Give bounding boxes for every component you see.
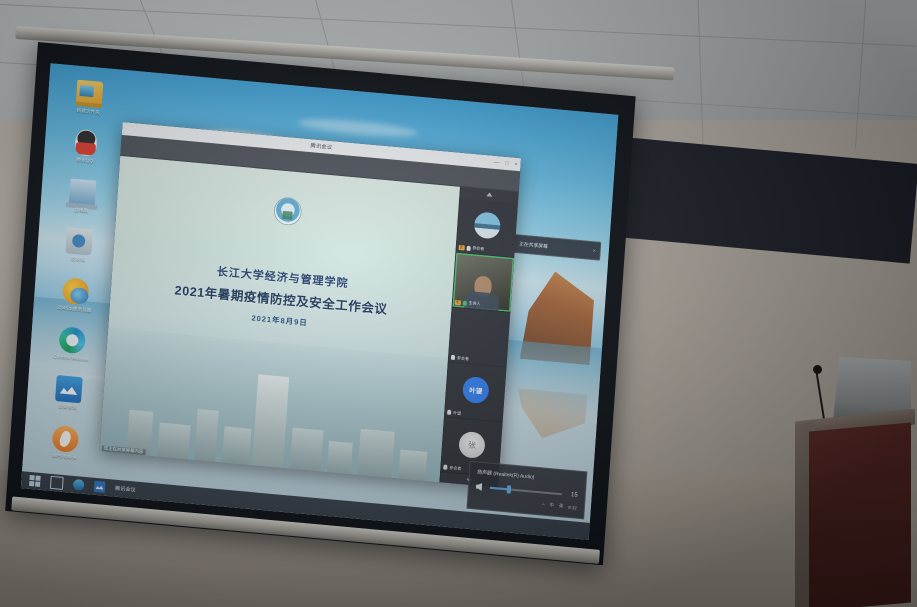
participant-tile[interactable]: 叶望 叶望	[445, 363, 507, 423]
meeting-body: 长江大学经济与管理学院 2021年暑期疫情防控及安全工作会议 2021年8月9日…	[100, 156, 519, 488]
notification-toast[interactable]: 正在共享屏幕 ×	[504, 233, 601, 261]
slide-title-block: 长江大学经济与管理学院 2021年暑期疫情防控及安全工作会议 2021年8月9日	[109, 254, 453, 342]
microphone-icon	[462, 300, 466, 305]
microphone-head-icon	[813, 365, 822, 374]
microphone-icon	[447, 410, 451, 415]
start-button-icon[interactable]	[29, 475, 41, 487]
host-badge: 主	[455, 300, 461, 305]
desktop-icon-network[interactable]: 2345加速浏览器	[43, 275, 107, 314]
participant-name: 参会者	[472, 245, 484, 252]
desktop-icon-label: 2345加速浏览器	[43, 303, 105, 314]
participant-name-row: 参会者	[451, 354, 469, 362]
participant-name-row: 参会者	[443, 464, 461, 472]
microphone-icon	[443, 465, 447, 470]
participant-name-row: 主 参会者	[459, 244, 485, 252]
tray-ime-icon[interactable]: 中	[549, 502, 554, 508]
orange-app-icon	[52, 425, 80, 453]
participant-name-row: 主 主讲人	[455, 299, 481, 307]
host-badge: 主	[459, 245, 465, 250]
tencent-meeting-window[interactable]: 腾讯会议 — □ ×	[100, 122, 521, 487]
slide-main-building	[252, 374, 289, 469]
recycle-bin-icon	[65, 228, 93, 256]
desktop-icon-computer[interactable]: 此电脑	[50, 177, 114, 216]
computer-icon	[69, 178, 97, 206]
avatar: 张	[458, 431, 486, 459]
edge-browser-icon[interactable]	[73, 479, 85, 491]
desktop-icon-label: WPS Office	[33, 451, 95, 462]
windows-desktop: 新建文件夹 腾讯QQ 此电脑 回收站	[21, 63, 618, 540]
participant-tile[interactable]: 主 主讲人	[452, 253, 514, 313]
desktop-icon-label: 新建文件夹	[57, 106, 119, 117]
speaker-icon[interactable]	[476, 482, 485, 491]
participant-name-row: 叶望	[447, 409, 461, 416]
browser-icon	[58, 326, 86, 354]
media-app-icon	[55, 375, 83, 403]
network-icon	[62, 277, 90, 305]
conference-room: 新建文件夹 腾讯QQ 此电脑 回收站	[0, 0, 917, 607]
participant-name: 叶望	[453, 410, 461, 417]
participant-name: 主讲人	[468, 300, 480, 307]
presentation-slide: 长江大学经济与管理学院 2021年暑期疫情防控及安全工作会议 2021年8月9日	[100, 156, 460, 483]
qq-icon	[72, 129, 100, 157]
volume-fill	[490, 487, 509, 491]
task-view-icon[interactable]	[50, 476, 64, 490]
participant-tile[interactable]: 主 参会者	[456, 198, 518, 258]
desktop-icon-orange-app[interactable]: WPS Office	[33, 423, 97, 462]
avatar	[473, 211, 501, 239]
close-icon[interactable]: ×	[593, 248, 596, 254]
microphone-icon	[466, 245, 470, 250]
desktop-icon-label: 回收站	[47, 254, 109, 265]
avatar: 叶望	[462, 376, 490, 404]
toast-text: 正在共享屏幕	[519, 240, 548, 250]
tray-chevron-icon[interactable]: ^	[542, 502, 544, 507]
shared-screen-area: 长江大学经济与管理学院 2021年暑期疫情防控及安全工作会议 2021年8月9日…	[100, 156, 460, 483]
meeting-app-icon[interactable]	[94, 481, 106, 493]
participant-name: 参会者	[449, 465, 461, 472]
lectern-body	[809, 423, 911, 607]
taskbar-app-label: 腾讯会议	[115, 485, 136, 494]
tray-lang-icon[interactable]: 英	[559, 503, 564, 509]
participant-tile[interactable]: 参会者	[449, 308, 511, 368]
desktop-icon-label: 企业微信	[37, 402, 99, 413]
university-seal-logo	[273, 197, 301, 225]
maximize-icon[interactable]: □	[505, 160, 509, 166]
desktop-icon-qq[interactable]: 腾讯QQ	[54, 127, 118, 166]
desktop-icon-recycle-bin[interactable]: 回收站	[47, 226, 111, 265]
gooseneck-microphone	[815, 369, 824, 419]
microphone-icon	[451, 355, 455, 360]
desktop-icon-label: 腾讯QQ	[54, 155, 116, 166]
window-title: 腾讯会议	[310, 142, 332, 151]
window-controls: — □ ×	[493, 156, 518, 171]
volume-value: 15	[567, 492, 577, 499]
lectern	[795, 357, 915, 607]
projection-screen: 新建文件夹 腾讯QQ 此电脑 回收站	[5, 42, 635, 565]
tray-clock[interactable]: 9:32	[568, 504, 577, 510]
participant-name: 参会者	[457, 355, 469, 362]
desktop-icon-media-app[interactable]: 企业微信	[37, 374, 101, 413]
screen-surface: 新建文件夹 腾讯QQ 此电脑 回收站	[21, 63, 618, 540]
desktop-icon-label: Chrome Website	[40, 352, 102, 363]
volume-knob[interactable]	[507, 485, 511, 493]
minimize-icon[interactable]: —	[493, 159, 499, 165]
close-icon[interactable]: ×	[514, 161, 518, 167]
desktop-icon-browser[interactable]: Chrome Website	[40, 325, 104, 364]
desktop-icon-folder[interactable]: 新建文件夹	[57, 78, 121, 117]
chevron-up-icon	[486, 193, 492, 198]
folder-icon	[76, 80, 104, 108]
